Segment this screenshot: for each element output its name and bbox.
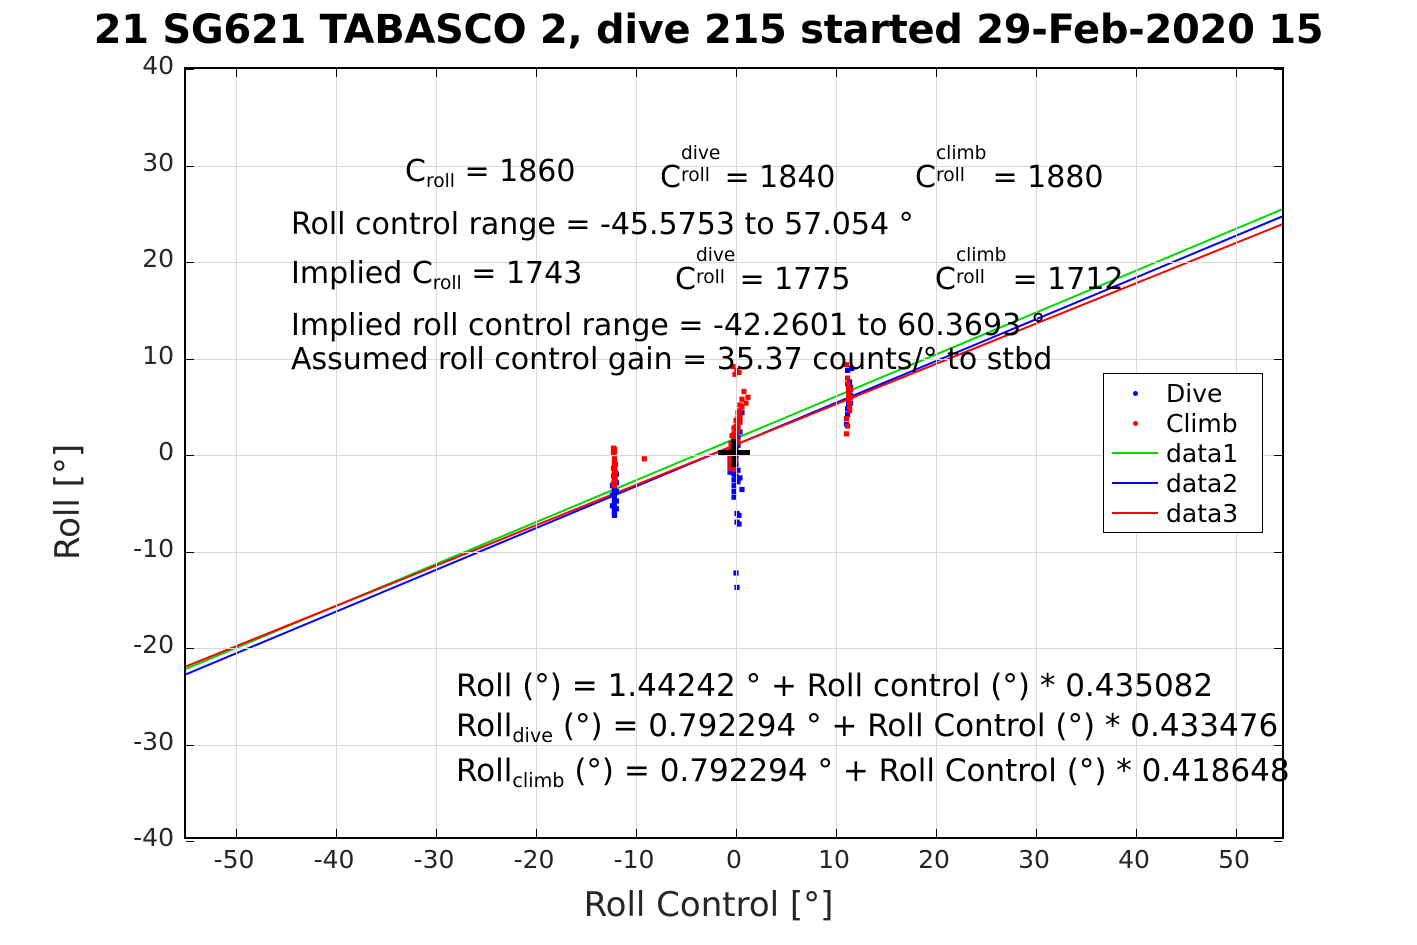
y-axis-tick (186, 841, 194, 842)
equation-roll-dive-rest: (°) = 0.792294 ° + Roll Control (°) * 0.… (563, 708, 1278, 744)
y-axis-tick (186, 552, 194, 553)
x-axis-tick (636, 69, 637, 77)
y-axis-tick (186, 648, 194, 649)
equation-roll-climb: Rollclimb (°) = 0.792294 ° + Roll Contro… (456, 753, 1290, 792)
y-axis-tick (1274, 69, 1282, 70)
legend-label: data3 (1166, 501, 1238, 526)
y-axis-tick (1274, 455, 1282, 456)
x-axis-tick-label: -10 (589, 845, 679, 874)
x-axis-tick (1036, 829, 1037, 837)
y-axis-tick-label: -20 (104, 630, 174, 659)
data-point (642, 456, 647, 461)
x-axis-label: Roll Control [°] (0, 885, 1417, 925)
implied-c-dive-superscript: dive (696, 247, 735, 266)
equation-roll-climb-rest: (°) = 0.792294 ° + Roll Control (°) * 0.… (574, 753, 1289, 789)
data-point (611, 473, 616, 478)
x-axis-tick (236, 69, 237, 77)
x-axis-tick-label: 0 (689, 845, 779, 874)
x-axis-tick-label: -40 (289, 845, 379, 874)
x-axis-tick (636, 829, 637, 837)
implied-c-roll-subscript: roll (433, 273, 462, 294)
x-axis-tick (936, 69, 937, 77)
data-point (848, 395, 853, 400)
annotation-roll-control-range: Roll control range = -45.5753 to 57.054 … (291, 210, 914, 240)
y-axis-tick (186, 262, 194, 263)
data-point (848, 387, 853, 392)
legend-line-icon (1104, 482, 1166, 484)
data-point (614, 498, 619, 503)
y-axis-tick-label: -40 (104, 823, 174, 852)
x-axis-tick (336, 69, 337, 77)
x-axis-tick (1136, 69, 1137, 77)
implied-c-roll-prefix: Implied C (291, 256, 433, 291)
legend-item-climb[interactable]: Climb (1104, 408, 1262, 438)
data-point (736, 521, 741, 526)
x-axis-tick (436, 829, 437, 837)
x-axis-tick (836, 829, 837, 837)
data-point (612, 513, 617, 518)
data-point (844, 416, 849, 421)
c-climb-symbol: C (915, 160, 936, 195)
x-axis-tick (836, 69, 837, 77)
x-axis-tick-label: 30 (989, 845, 1079, 874)
c-roll-symbol: C (405, 154, 426, 189)
annotation-c-roll-dive: Cdiveroll = 1840 (660, 157, 836, 193)
x-axis-tick-label: 40 (1089, 845, 1179, 874)
x-axis-tick-label: 20 (889, 845, 979, 874)
implied-c-climb-subscript: roll (956, 269, 985, 288)
x-axis-tick (736, 829, 737, 837)
legend-line-icon (1104, 512, 1166, 514)
y-axis-tick (186, 166, 194, 167)
implied-c-dive-value: = 1775 (740, 262, 851, 297)
annotation-implied-c-roll: Implied Croll = 1743 (291, 259, 582, 294)
y-axis-tick (1274, 262, 1282, 263)
y-axis-label: Roll [°] (48, 444, 88, 560)
implied-c-dive-subscript: roll (696, 269, 725, 288)
y-axis-tick-label: 20 (104, 244, 174, 273)
annotation-implied-c-dive: Cdiveroll = 1775 (675, 259, 851, 295)
annotation-implied-roll-control-range: Implied roll control range = -42.2601 to… (291, 311, 1046, 341)
gridline-vertical (236, 69, 237, 837)
c-climb-subscript: roll (936, 167, 965, 186)
c-dive-subscript: roll (681, 167, 710, 186)
implied-c-climb-superscript: climb (956, 247, 1006, 266)
legend-swatch (1133, 421, 1138, 426)
equation-roll-climb-prefix: Roll (456, 753, 512, 789)
equation-roll-all: Roll (°) = 1.44242 ° + Roll control (°) … (456, 668, 1213, 704)
c-roll-subscript: roll (426, 171, 455, 192)
c-dive-symbol: C (660, 160, 681, 195)
annotation-assumed-gain: Assumed roll control gain = 35.37 counts… (291, 345, 1052, 375)
page-title: 21 SG621 TABASCO 2, dive 215 started 29-… (0, 4, 1417, 56)
data-point (610, 493, 615, 498)
c-climb-value: = 1880 (993, 160, 1104, 195)
data-point (737, 414, 742, 419)
y-axis-tick-label: -30 (104, 727, 174, 756)
y-axis-tick-label: 30 (104, 148, 174, 177)
implied-c-dive-symbol: C (675, 262, 696, 297)
data-point (611, 446, 616, 451)
legend-label: Climb (1166, 411, 1238, 436)
data-point (845, 424, 850, 429)
data-point (844, 431, 849, 436)
gridline-vertical (336, 69, 337, 837)
y-axis-tick (186, 359, 194, 360)
y-axis-tick (186, 455, 194, 456)
data-point (737, 475, 742, 480)
legend-item-data3[interactable]: data3 (1104, 498, 1262, 528)
equation-roll-climb-subscript: climb (512, 769, 564, 792)
implied-c-climb-value: = 1712 (1013, 262, 1124, 297)
x-axis-tick (936, 829, 937, 837)
implied-c-climb-symbol: C (935, 262, 956, 297)
data-point (611, 481, 616, 486)
y-axis-tick-label: 0 (104, 437, 174, 466)
data-point (739, 487, 744, 492)
data-point (743, 400, 748, 405)
y-axis-tick (186, 69, 194, 70)
legend-label: data1 (1166, 441, 1238, 466)
y-axis-tick-label: 40 (104, 51, 174, 80)
x-axis-tick (336, 829, 337, 837)
legend-label: Dive (1166, 381, 1222, 406)
data-point (745, 395, 750, 400)
c-dive-value: = 1840 (725, 160, 836, 195)
data-point (741, 389, 746, 394)
y-axis-tick (1274, 359, 1282, 360)
legend-item-data1[interactable]: data1 (1104, 438, 1262, 468)
y-axis-tick (1274, 166, 1282, 167)
scatter-series-dive (610, 366, 854, 590)
legend-marker-icon (1104, 421, 1166, 426)
annotation-c-roll: Croll = 1860 (405, 157, 575, 192)
legend-label: data2 (1166, 471, 1238, 496)
legend-item-data2[interactable]: data2 (1104, 468, 1262, 498)
equation-roll-dive-prefix: Roll (456, 708, 512, 744)
y-axis-tick (1274, 552, 1282, 553)
x-axis-tick (236, 829, 237, 837)
annotation-implied-c-climb: Cclimbroll = 1712 (935, 259, 1124, 295)
y-axis-tick (1274, 648, 1282, 649)
page-title-text: 21 SG621 TABASCO 2, dive 215 started 29-… (94, 7, 1324, 53)
data-point (847, 408, 852, 413)
legend-line-icon (1104, 452, 1166, 454)
x-axis-tick-label: 10 (789, 845, 879, 874)
equation-roll-dive-subscript: dive (512, 724, 553, 747)
gridline-horizontal (186, 648, 1282, 649)
x-axis-tick (436, 69, 437, 77)
x-axis-tick (536, 829, 537, 837)
scatter-series-climb (611, 362, 853, 488)
y-axis-tick-label: -10 (104, 534, 174, 563)
data-point (610, 503, 615, 508)
data-point (611, 466, 616, 471)
implied-c-roll-value: = 1743 (471, 256, 582, 291)
y-axis-tick-label: 10 (104, 341, 174, 370)
y-axis-tick (1274, 841, 1282, 842)
legend-swatch (1112, 482, 1158, 484)
legend-marker-icon (1104, 391, 1166, 396)
x-axis-tick (1136, 829, 1137, 837)
legend-item-dive[interactable]: Dive (1104, 378, 1262, 408)
legend-swatch (1112, 512, 1158, 514)
legend-swatch (1133, 391, 1138, 396)
x-axis-tick (1236, 69, 1237, 77)
x-axis-tick (536, 69, 537, 77)
x-axis-tick-label: -30 (389, 845, 479, 874)
x-axis-tick (1036, 69, 1037, 77)
x-axis-tick-label: -20 (489, 845, 579, 874)
annotation-c-roll-climb: Cclimbroll = 1880 (915, 157, 1104, 193)
gridline-horizontal (186, 552, 1282, 553)
data-point (737, 420, 742, 425)
x-axis-tick (736, 69, 737, 77)
y-axis-tick (186, 745, 194, 746)
c-climb-superscript: climb (936, 145, 986, 164)
legend-swatch (1112, 452, 1158, 454)
legend: DiveClimbdata1data2data3 (1103, 373, 1263, 533)
c-roll-value: = 1860 (464, 154, 575, 189)
x-axis-tick (1236, 829, 1237, 837)
data-point (736, 513, 741, 518)
equation-roll-dive: Rolldive (°) = 0.792294 ° + Roll Control… (456, 708, 1278, 747)
x-axis-tick-label: -50 (189, 845, 279, 874)
c-dive-superscript: dive (681, 145, 720, 164)
x-axis-tick-label: 50 (1189, 845, 1279, 874)
